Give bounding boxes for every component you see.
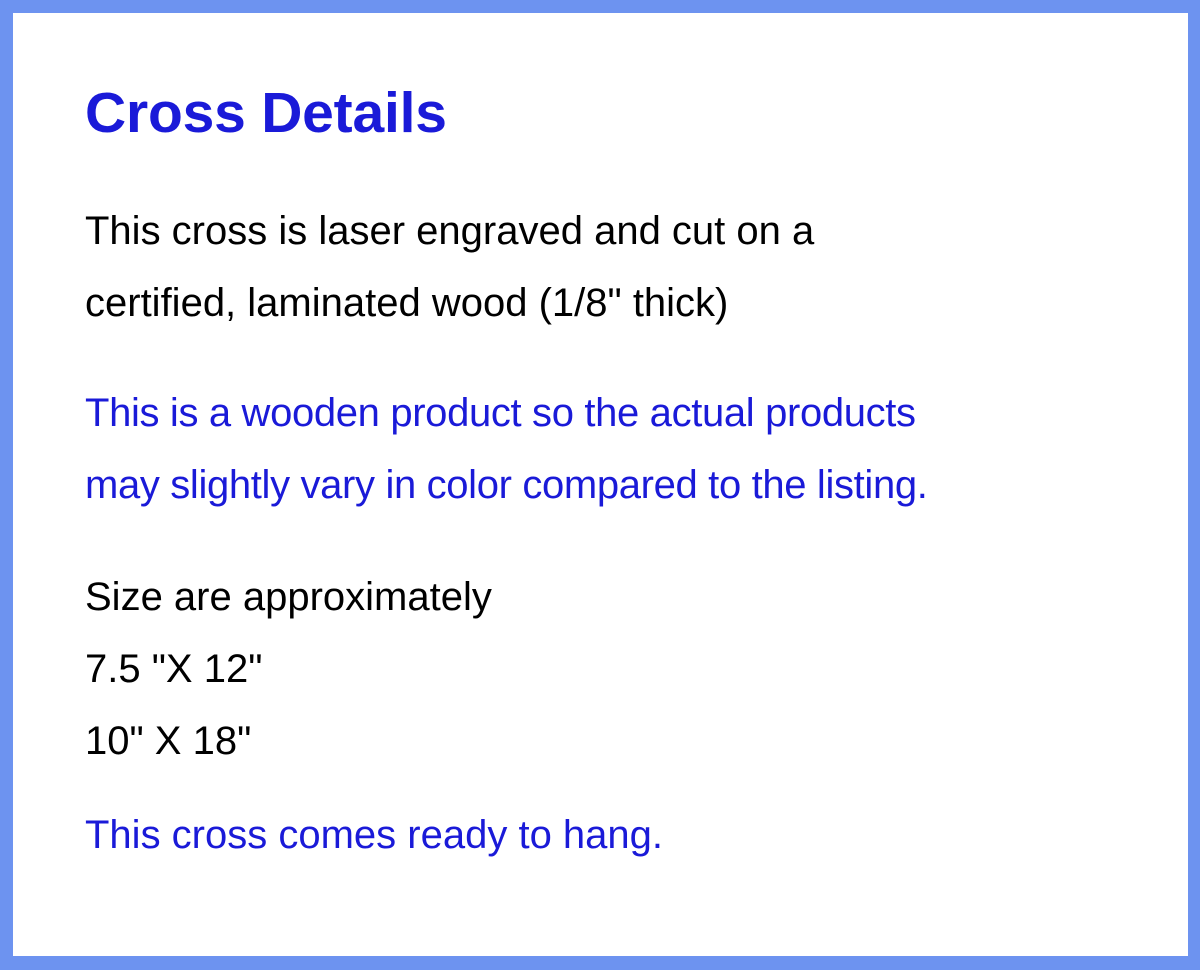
color-variance-notice-line-1: This is a wooden product so the actual p… (85, 377, 928, 449)
page-title: Cross Details (85, 85, 447, 142)
card-inner-panel: Cross Details This cross is laser engrav… (13, 13, 1188, 956)
size-information-paragraph: Size are approximately 7.5 "X 12" 10" X … (85, 561, 492, 777)
material-description-paragraph: This cross is laser engraved and cut on … (85, 195, 814, 339)
ready-to-hang-line-1: This cross comes ready to hang. (85, 799, 663, 871)
material-description-line-1: This cross is laser engraved and cut on … (85, 195, 814, 267)
ready-to-hang-note: This cross comes ready to hang. (85, 799, 663, 871)
size-option-small: 7.5 "X 12" (85, 633, 492, 705)
size-option-large: 10" X 18" (85, 705, 492, 777)
material-description-line-2: certified, laminated wood (1/8" thick) (85, 267, 814, 339)
color-variance-notice-line-2: may slightly vary in color compared to t… (85, 449, 928, 521)
size-label: Size are approximately (85, 561, 492, 633)
card-content: Cross Details This cross is laser engrav… (85, 13, 1188, 956)
cross-details-card: Cross Details This cross is laser engrav… (0, 0, 1200, 970)
color-variance-notice-paragraph: This is a wooden product so the actual p… (85, 377, 928, 521)
